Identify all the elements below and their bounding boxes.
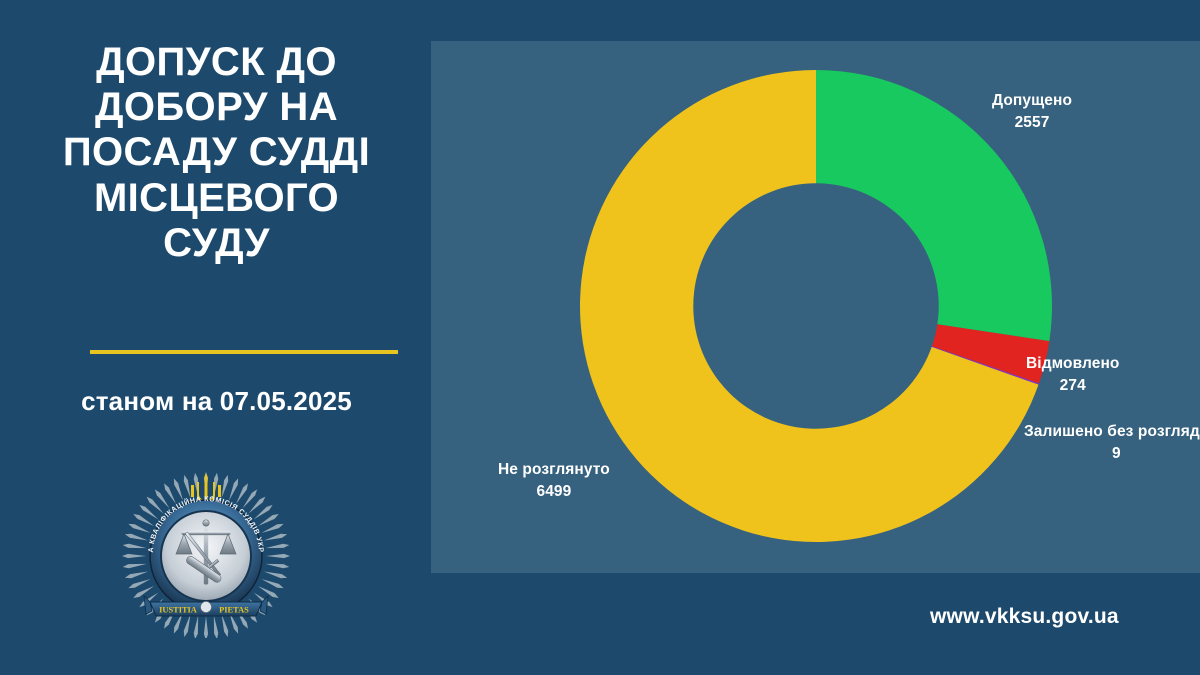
slice-label-text: Залишено без розгляду	[1024, 423, 1200, 440]
left-column: ДОПУСК ДО ДОБОРУ НА ПОСАДУ СУДДІ МІСЦЕВО…	[0, 0, 431, 675]
title-divider	[90, 350, 398, 354]
slice-label-ne-rozglyanuto: Не розглянуто 6499	[498, 459, 610, 503]
donut-chart-svg	[580, 70, 1052, 542]
slice-label-value: 2557	[992, 112, 1072, 134]
slice-label-value: 9	[1024, 443, 1200, 465]
vkksu-emblem: ВИЩА КВАЛІФІКАЦІЙНА КОМІСІЯ СУДДІВ УКРАЇ…	[122, 470, 290, 638]
infographic-root: ДОПУСК ДО ДОБОРУ НА ПОСАДУ СУДДІ МІСЦЕВО…	[0, 0, 1200, 675]
slice-label-text: Не розглянуто	[498, 461, 610, 478]
page-title: ДОПУСК ДО ДОБОРУ НА ПОСАДУ СУДДІ МІСЦЕВО…	[44, 40, 389, 266]
banner-text-left: IUSTITIA	[159, 606, 197, 615]
banner-text-right: PIETAS	[219, 606, 249, 615]
donut-chart	[580, 70, 1052, 542]
website-url: www.vkksu.gov.ua	[930, 605, 1119, 629]
slice-label-text: Допущено	[992, 92, 1072, 109]
as-of-date: станом на 07.05.2025	[44, 386, 389, 417]
slice-label-dopushcheno: Допущено 2557	[992, 90, 1072, 134]
slice-label-zalysheno-bez-rozglyadu: Залишено без розгляду 9	[1024, 421, 1200, 465]
slice-label-value: 274	[1026, 375, 1120, 397]
slice-label-vidmovleno: Відмовлено 274	[1026, 353, 1120, 397]
slice-label-text: Відмовлено	[1026, 355, 1120, 372]
slice-label-value: 6499	[498, 481, 610, 503]
